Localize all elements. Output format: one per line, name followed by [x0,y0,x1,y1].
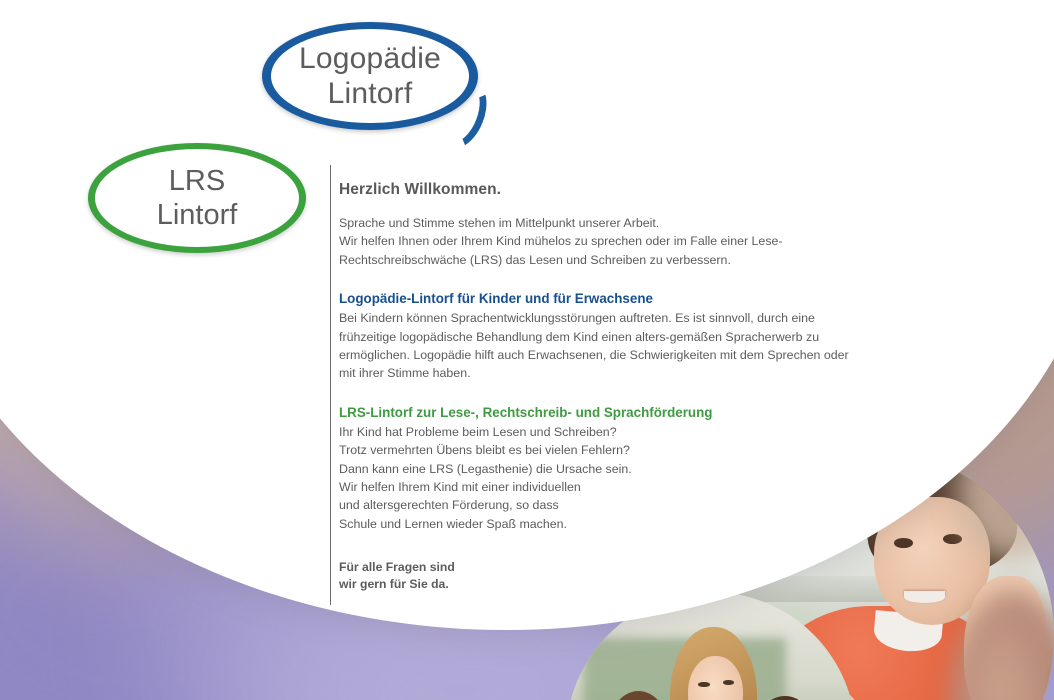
logo-lrs-lintorf[interactable]: LRS Lintorf [88,143,310,257]
section-logopaedie-body: Bei Kindern können Sprachentwicklungsstö… [339,309,859,383]
closing-line-2: wir gern für Sie da. [339,576,859,593]
main-content: Herzlich Willkommen. Sprache und Stimme … [0,0,1054,700]
intro-paragraph: Sprache und Stimme stehen im Mittelpunkt… [339,214,859,269]
lrs-line-3: Dann kann eine LRS (Legasthenie) die Urs… [339,460,859,478]
lrs-line-5: und altersgerechten Förderung, so dass [339,496,859,514]
lrs-line-6: Schule und Lernen wieder Spaß machen. [339,515,859,533]
section-lrs-heading: LRS-Lintorf zur Lese-, Rechtschreib- und… [339,405,859,420]
lrs-line-2: Trotz vermehrten Übens bleibt es bei vie… [339,441,859,459]
logo-green-line-1: LRS [169,164,225,198]
logo-blue-text: Logopädie Lintorf [271,29,469,123]
closing-line-1: Für alle Fragen sind [339,559,859,576]
intro-line-1: Sprache und Stimme stehen im Mittelpunkt… [339,214,859,232]
logo-green-line-2: Lintorf [157,198,238,232]
welcome-heading: Herzlich Willkommen. [339,181,859,199]
logo-logopaedie-lintorf[interactable]: Logopädie Lintorf [262,22,488,144]
intro-line-3: Rechtschreibschwäche (LRS) das Lesen und… [339,251,859,269]
closing-note: Für alle Fragen sind wir gern für Sie da… [339,559,859,592]
intro-line-2: Wir helfen Ihnen oder Ihrem Kind mühelos… [339,232,859,250]
logo-blue-line-2: Lintorf [328,76,413,111]
logo-green-text: LRS Lintorf [95,149,299,247]
section-lrs-body: Ihr Kind hat Probleme beim Lesen und Sch… [339,423,859,533]
vertical-divider-rule [330,165,331,605]
lrs-line-4: Wir helfen Ihrem Kind mit einer individu… [339,478,859,496]
text-column: Herzlich Willkommen. Sprache und Stimme … [339,181,859,592]
lrs-line-1: Ihr Kind hat Probleme beim Lesen und Sch… [339,423,859,441]
logo-blue-line-1: Logopädie [299,41,441,76]
section-logopaedie-heading: Logopädie-Lintorf für Kinder und für Erw… [339,291,859,306]
section-logopaedie: Logopädie-Lintorf für Kinder und für Erw… [339,291,859,383]
section-lrs: LRS-Lintorf zur Lese-, Rechtschreib- und… [339,405,859,533]
